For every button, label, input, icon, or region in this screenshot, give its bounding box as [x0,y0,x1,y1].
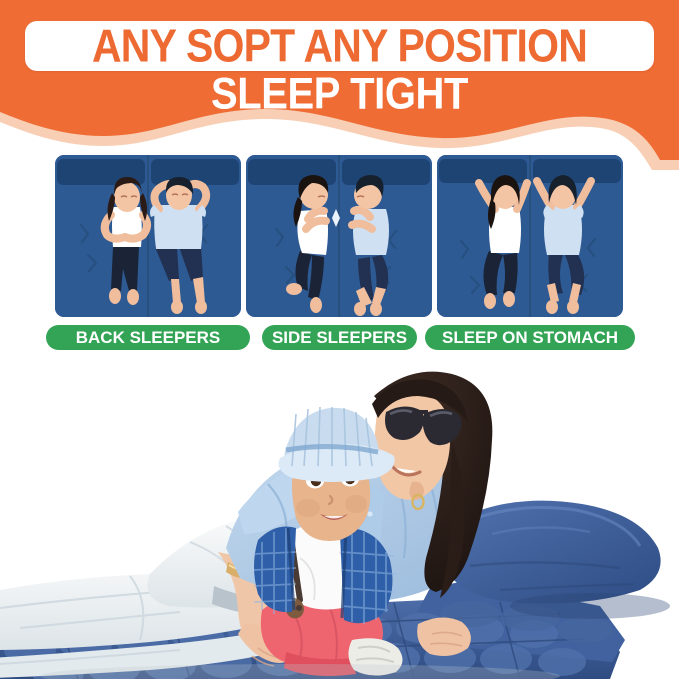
stomach-sleepers-illustration [437,155,623,317]
sleep-position-card-side[interactable]: SIDE SLEEPERS [246,155,432,317]
pill-text: SIDE SLEEPERS [272,328,407,348]
pill-text: BACK SLEEPERS [76,328,221,348]
sleep-position-label-stomach: SLEEP ON STOMACH [425,325,635,350]
pill-text: SLEEP ON STOMACH [442,328,618,348]
product-lifestyle-photo [0,362,679,679]
infographic-root: ANY SOPT ANY POSITION SLEEP TIGHT [0,0,679,679]
headline-secondary-text: SLEEP TIGHT [211,72,468,117]
side-sleepers-illustration [246,155,432,317]
header-banner: ANY SOPT ANY POSITION SLEEP TIGHT [0,0,679,170]
headline-primary: ANY SOPT ANY POSITION [92,23,587,69]
sleep-position-card-stomach[interactable]: SLEEP ON STOMACH [437,155,623,317]
back-sleepers-illustration [55,155,241,317]
sleep-position-panels: BACK SLEEPERS [0,155,679,360]
sleep-position-label-back: BACK SLEEPERS [46,325,250,350]
title-box: ANY SOPT ANY POSITION [25,21,654,71]
headline-secondary: SLEEP TIGHT [0,74,679,114]
sleep-position-card-back[interactable]: BACK SLEEPERS [55,155,241,317]
sleep-position-label-side: SIDE SLEEPERS [262,325,417,350]
